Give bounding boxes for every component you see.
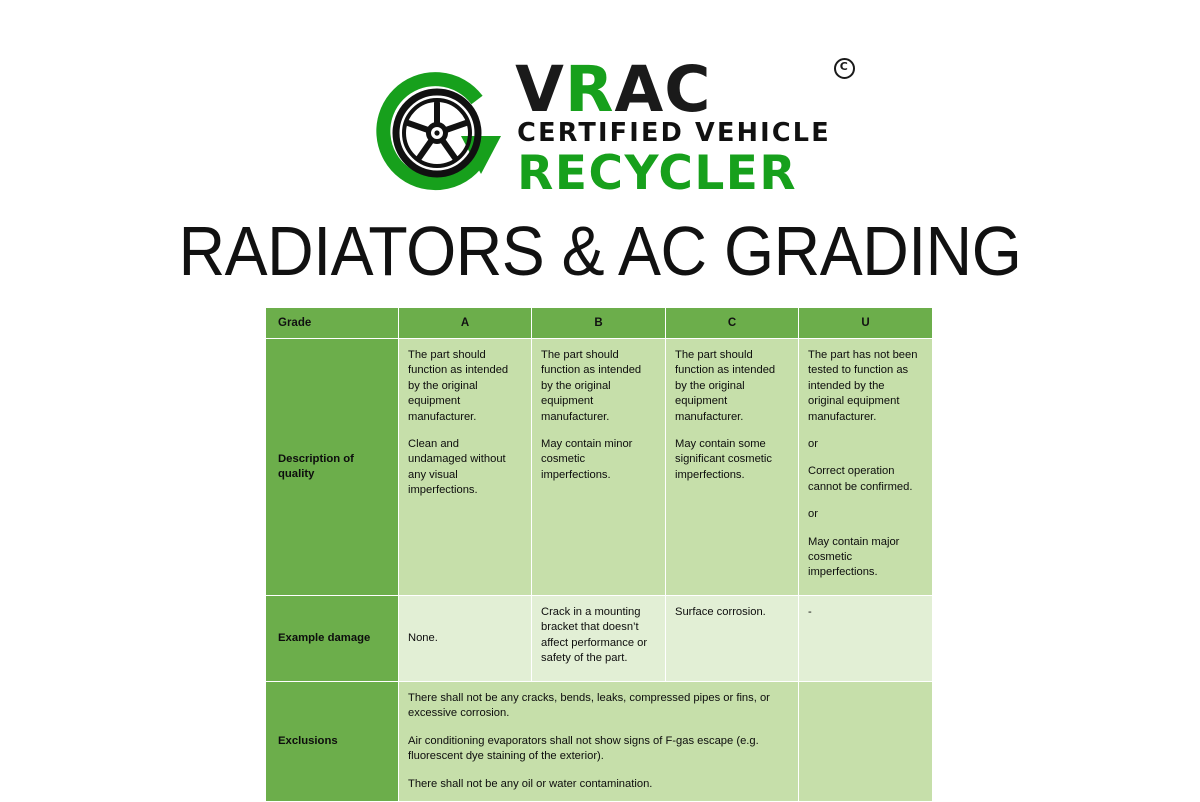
cell-paragraph: Surface corrosion. xyxy=(675,605,788,620)
column-header-b: B xyxy=(532,308,666,339)
cell-example-b: Crack in a mounting bracket that doesn’t… xyxy=(532,596,666,682)
logo-letter-v: V xyxy=(515,53,565,126)
cell-paragraph: or xyxy=(808,437,922,452)
cell-paragraph: The part should function as intended by … xyxy=(408,348,521,425)
cell-paragraph: The part should function as intended by … xyxy=(541,348,655,425)
cell-paragraph: - xyxy=(808,605,922,620)
brand-logo: VRAC C CERTIFIED VEHICLE RECYCLER xyxy=(0,58,1200,201)
table-row: Example damage None. Crack in a mounting… xyxy=(266,596,933,682)
cell-paragraph: There shall not be any cracks, bends, le… xyxy=(408,691,788,722)
cell-paragraph: May contain major cosmetic imperfections… xyxy=(808,535,922,581)
logo-letters-ac: AC xyxy=(614,53,711,126)
cell-paragraph: May contain some significant cosmetic im… xyxy=(675,437,788,483)
column-header-grade: Grade xyxy=(266,308,399,339)
table-row: Exclusions There shall not be any cracks… xyxy=(266,682,933,802)
copyright-icon: C xyxy=(834,58,855,79)
cell-description-u: The part has not been tested to function… xyxy=(799,339,933,596)
table-row: Description of quality The part should f… xyxy=(266,339,933,596)
cell-paragraph: Crack in a mounting bracket that doesn’t… xyxy=(541,605,655,667)
cell-example-a: None. xyxy=(399,596,532,682)
cell-paragraph: or xyxy=(808,507,922,522)
cell-description-b: The part should function as intended by … xyxy=(532,339,666,596)
cell-paragraph: Correct operation cannot be confirmed. xyxy=(808,464,922,495)
cell-description-c: The part should function as intended by … xyxy=(666,339,799,596)
row-label-example-damage: Example damage xyxy=(266,596,399,682)
column-header-c: C xyxy=(666,308,799,339)
cell-example-u: - xyxy=(799,596,933,682)
grading-table: Grade A B C U Description of quality The… xyxy=(265,307,933,802)
cell-paragraph: May contain minor cosmetic imperfections… xyxy=(541,437,655,483)
table-header-row: Grade A B C U xyxy=(266,308,933,339)
logo-inner: VRAC C CERTIFIED VEHICLE RECYCLER xyxy=(369,58,831,201)
page-title: RADIATORS & AC GRADING xyxy=(48,212,1152,290)
logo-wordmark: VRAC C CERTIFIED VEHICLE RECYCLER xyxy=(515,58,831,201)
column-header-u: U xyxy=(799,308,933,339)
logo-tagline-line2: RECYCLER xyxy=(517,146,831,201)
cell-example-c: Surface corrosion. xyxy=(666,596,799,682)
cell-exclusions-u xyxy=(799,682,933,802)
cell-paragraph: The part has not been tested to function… xyxy=(808,348,922,425)
logo-brand-text: VRAC C xyxy=(515,60,831,120)
row-label-exclusions: Exclusions xyxy=(266,682,399,802)
cell-paragraph: The part should function as intended by … xyxy=(675,348,788,425)
logo-letter-r: R xyxy=(565,53,615,126)
cell-exclusions-abc: There shall not be any cracks, bends, le… xyxy=(399,682,799,802)
column-header-a: A xyxy=(399,308,532,339)
cell-paragraph: There shall not be any oil or water cont… xyxy=(408,777,788,792)
cell-description-a: The part should function as intended by … xyxy=(399,339,532,596)
cell-paragraph: Air conditioning evaporators shall not s… xyxy=(408,734,788,765)
cell-paragraph: Clean and undamaged without any visual i… xyxy=(408,437,521,499)
row-label-description-of-quality: Description of quality xyxy=(266,339,399,596)
cell-paragraph: None. xyxy=(408,631,521,646)
recycling-wheel-icon xyxy=(369,64,509,196)
